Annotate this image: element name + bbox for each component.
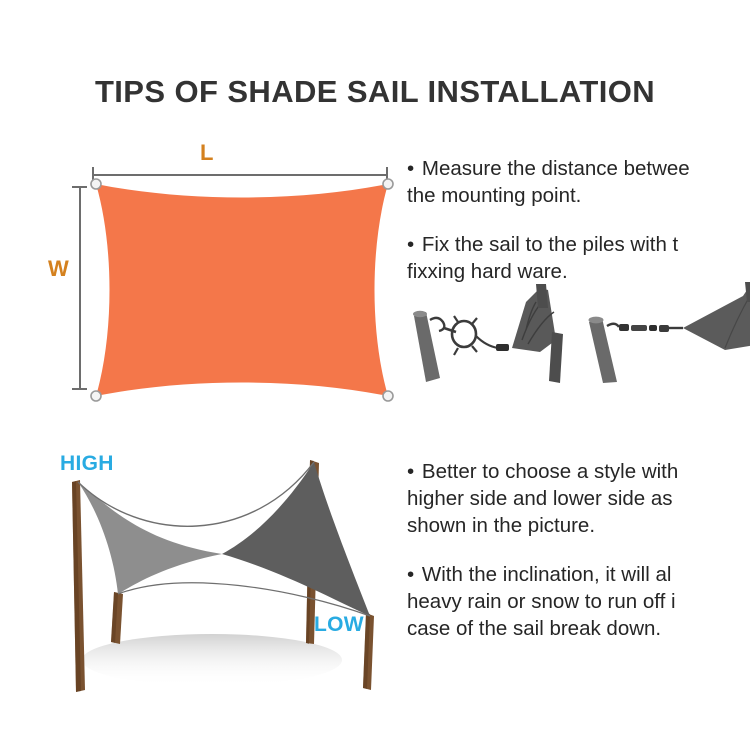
tip-line: fixxing hard ware. [407,258,750,285]
bullet-glyph: • [407,460,416,483]
width-dimension-line [79,186,81,390]
hardware-turnbuckle-illustration [400,278,590,383]
tip-item: • Measure the distance betwee the mounti… [407,155,750,209]
width-dimension-cap-bottom [72,388,87,390]
tip-line: • Fix the sail to the piles with t [407,231,750,258]
dimension-label-length: L [200,140,213,166]
section-top: L W [0,130,750,415]
section-bottom: HIGH LOW [0,430,750,720]
tip-line: the mounting point. [407,182,750,209]
tip-item: • Fix the sail to the piles with t fixxi… [407,231,750,285]
tip-text: Measure the distance betwee [422,157,690,180]
tip-line: • Measure the distance betwee [407,155,750,182]
tag-low: LOW [314,613,364,637]
bullet-glyph: • [407,563,416,586]
hardware-figures [400,278,750,383]
hardware-chain-illustration [575,278,750,383]
tips-text-bottom: • Better to choose a style with higher s… [407,458,750,642]
tip-line: heavy rain or snow to run off i [407,588,750,615]
inclined-sail-illustration [22,438,412,718]
tip-line: shown in the picture. [407,512,750,539]
bullet-glyph: • [407,157,416,180]
tip-text: With the inclination, it will al [422,563,672,586]
inclined-sail-figure: HIGH LOW [22,438,412,718]
tip-item: • Better to choose a style with higher s… [407,458,750,539]
tip-line: case of the sail break down. [407,615,750,642]
page-title: TIPS OF SHADE SAIL INSTALLATION [0,74,750,110]
tip-text: Better to choose a style with [422,460,678,483]
tip-line: • With the inclination, it will al [407,561,750,588]
infographic-page: TIPS OF SHADE SAIL INSTALLATION L W [0,0,750,750]
bullet-glyph: • [407,233,416,256]
dimension-label-width: W [48,256,69,282]
orange-sail-shape [86,176,398,404]
tip-text: Fix the sail to the piles with t [422,233,678,256]
tip-line: higher side and lower side as [407,485,750,512]
width-dimension-cap-top [72,186,87,188]
rectangular-sail-figure: L W [34,138,404,408]
tip-item: • With the inclination, it will al heavy… [407,561,750,642]
tag-high: HIGH [60,452,114,476]
tips-text-top: • Measure the distance betwee the mounti… [407,155,750,285]
tip-line: • Better to choose a style with [407,458,750,485]
